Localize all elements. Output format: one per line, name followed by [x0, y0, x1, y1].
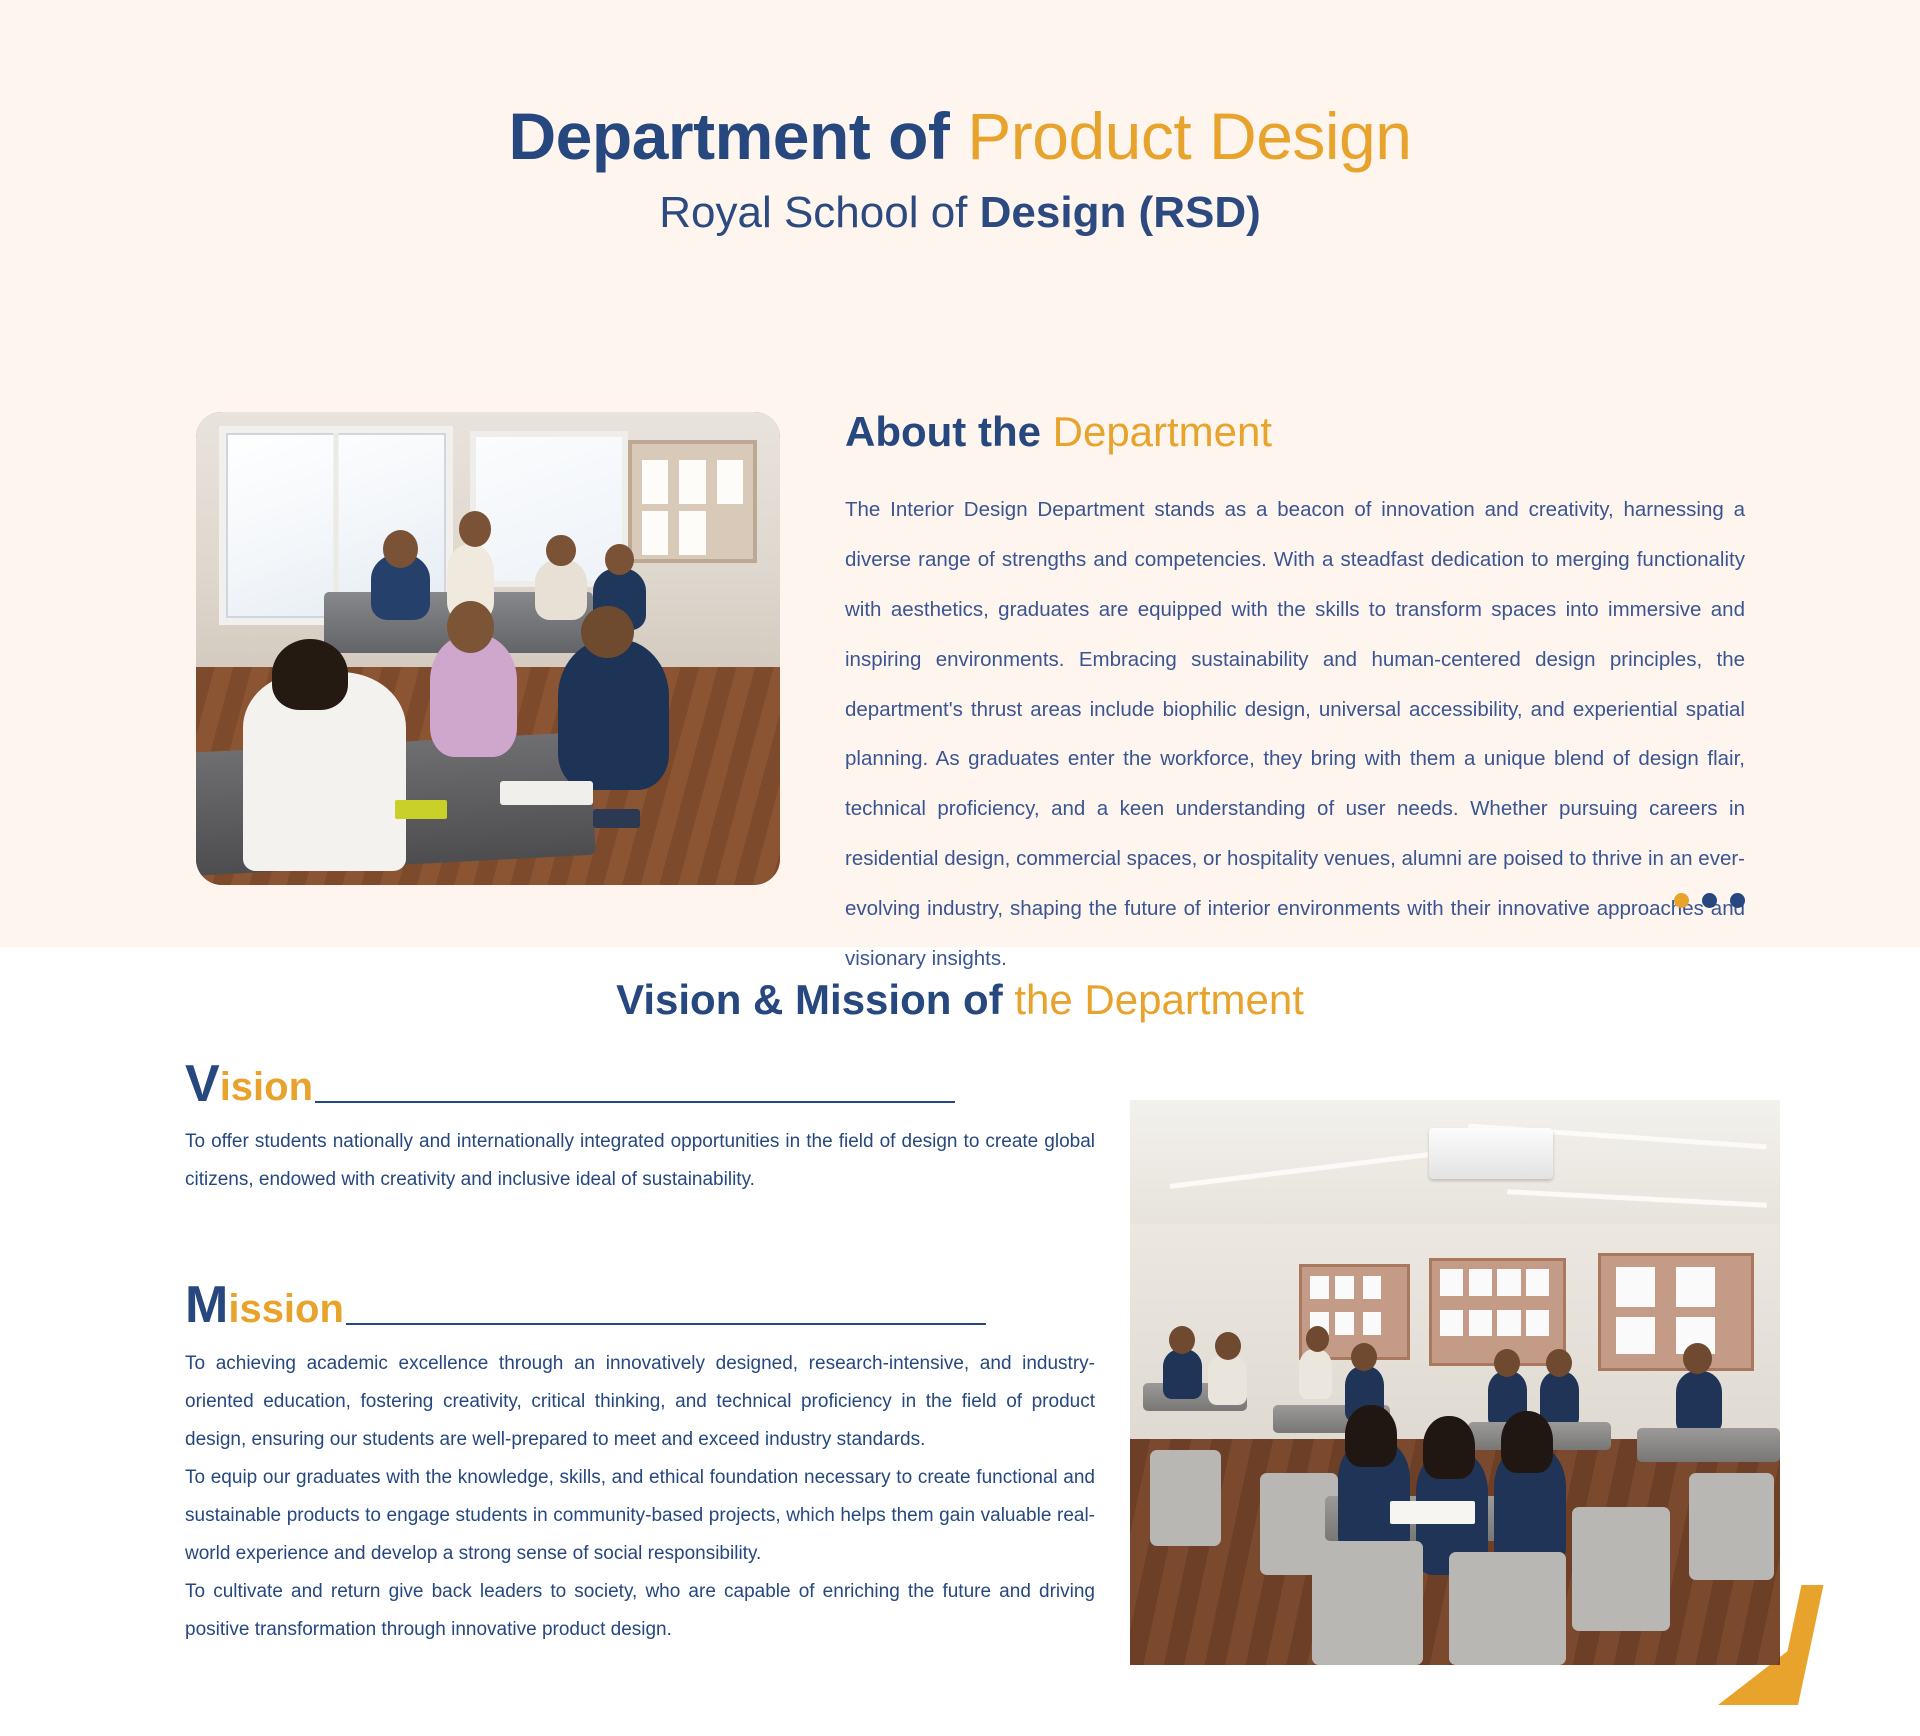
mission-title-cap: M	[185, 1281, 228, 1330]
vision-mission-photo	[1130, 1100, 1780, 1665]
carousel-dot-2[interactable]	[1702, 893, 1717, 908]
vision-title: V ision	[185, 1060, 1095, 1109]
page-subtitle: Royal School of Design (RSD)	[0, 188, 1920, 239]
about-photo	[196, 412, 780, 885]
vision-title-rule	[315, 1101, 955, 1103]
about-section: About the Department The Interior Design…	[0, 407, 1920, 907]
page-title-light: Product Design	[967, 99, 1411, 173]
carousel-dot-3[interactable]	[1730, 893, 1745, 908]
about-heading-light: Department	[1053, 408, 1272, 455]
mission-title-rule	[346, 1323, 986, 1325]
page-title-line1: Department of Product Design	[0, 100, 1920, 174]
mission-block: M ission To achieving academic excellenc…	[185, 1281, 1095, 1648]
carousel-dot-1[interactable]	[1674, 893, 1689, 908]
mission-body: To achieving academic excellence through…	[185, 1345, 1095, 1649]
vision-paragraph: To offer students nationally and interna…	[185, 1123, 1095, 1199]
about-heading-bold: About the	[845, 408, 1041, 455]
page-title: Department of Product Design Royal Schoo…	[0, 100, 1920, 239]
vision-mission-text-column: V ision To offer students nationally and…	[185, 1060, 1095, 1649]
vision-title-rest: ision	[220, 1065, 313, 1109]
page-title-bold: Department of	[509, 99, 950, 173]
classroom-photo-illustration	[1130, 1100, 1780, 1665]
vision-mission-heading-light: the Department	[1014, 976, 1304, 1023]
about-heading: About the Department	[845, 407, 1745, 457]
mission-title-rest: ission	[228, 1287, 344, 1331]
vision-mission-heading-bold: Vision & Mission of	[616, 976, 1003, 1023]
mission-paragraph-3: To cultivate and return give back leader…	[185, 1573, 1095, 1649]
vision-block: V ision To offer students nationally and…	[185, 1060, 1095, 1199]
about-copy: About the Department The Interior Design…	[845, 407, 1745, 984]
page-root: Department of Product Design Royal Schoo…	[0, 0, 1920, 1736]
vision-mission-photo-wrapper	[1130, 1100, 1780, 1665]
mission-paragraph-2: To equip our graduates with the knowledg…	[185, 1459, 1095, 1573]
carousel-dots[interactable]	[1674, 893, 1745, 908]
about-photo-illustration	[196, 412, 780, 885]
about-paragraph: The Interior Design Department stands as…	[845, 485, 1745, 983]
page-subtitle-bold: Design (RSD)	[980, 188, 1261, 237]
vision-mission-heading: Vision & Mission of the Department	[0, 975, 1920, 1025]
vision-body: To offer students nationally and interna…	[185, 1123, 1095, 1199]
mission-paragraph-1: To achieving academic excellence through…	[185, 1345, 1095, 1459]
mission-title: M ission	[185, 1281, 1095, 1330]
page-subtitle-light: Royal School of	[659, 188, 967, 237]
vision-title-cap: V	[185, 1060, 220, 1109]
